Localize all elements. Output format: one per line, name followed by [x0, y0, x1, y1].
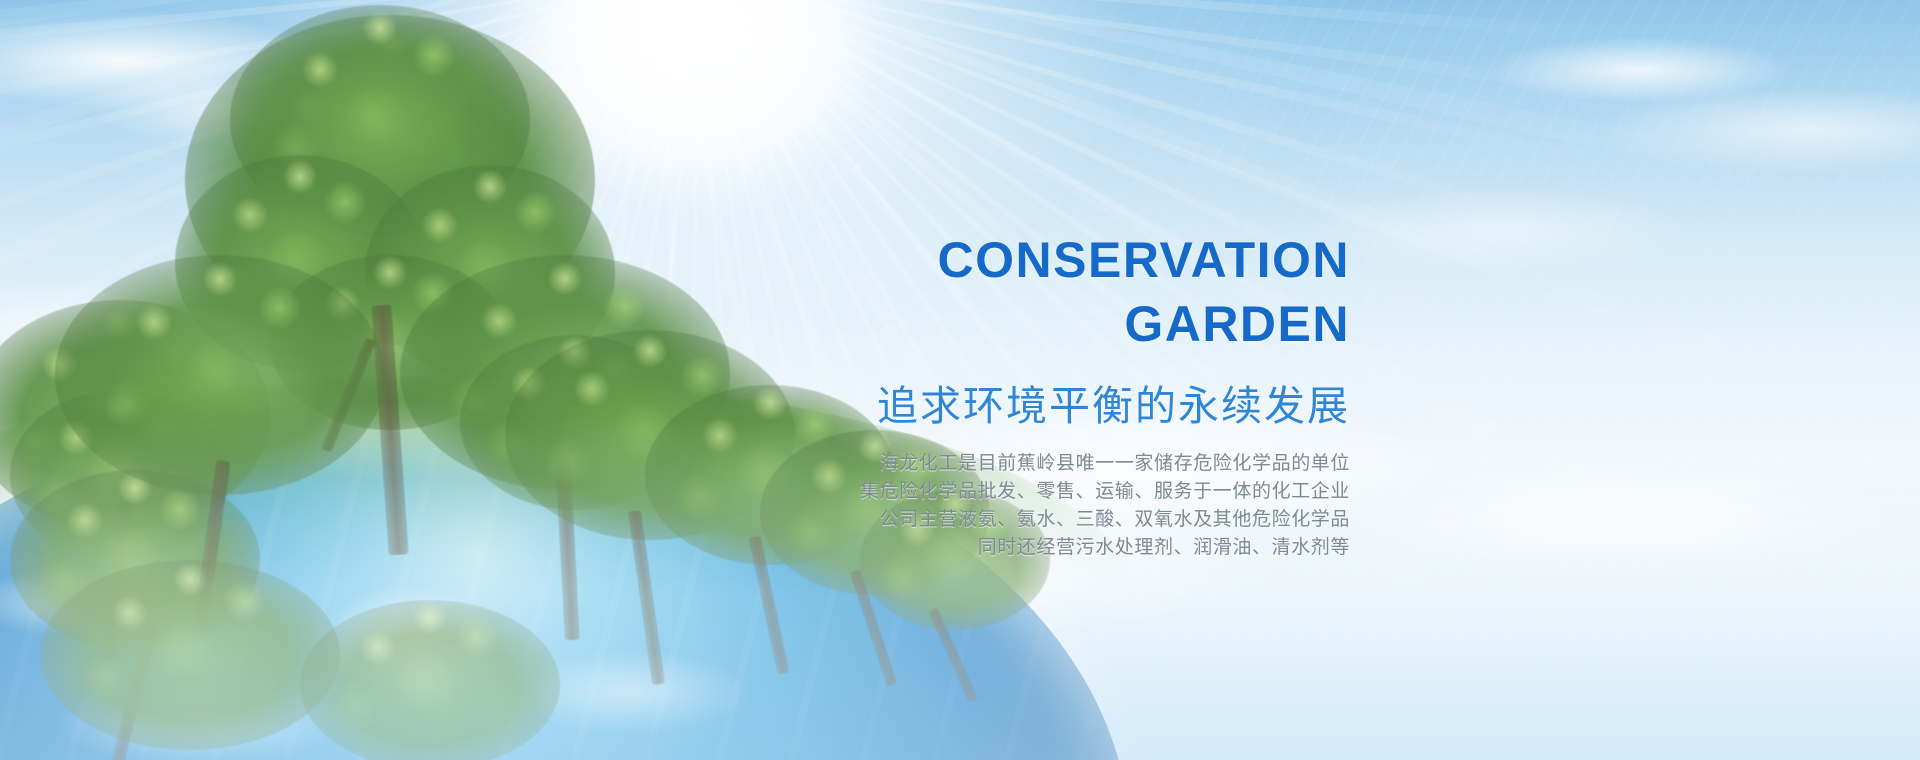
tree-bottom-center: [300, 600, 560, 760]
tagline: 追求环境平衡的永续发展: [710, 378, 1350, 434]
tree-left-lower: [10, 470, 260, 730]
description-line: 海龙化工是目前蕉岭县唯一一家储存危险化学品的单位: [710, 450, 1350, 478]
description-list: 海龙化工是目前蕉岭县唯一一家储存危险化学品的单位 集危险化学品批发、零售、运输、…: [710, 450, 1350, 562]
description-line: 集危险化学品批发、零售、运输、服务于一体的化工企业: [710, 478, 1350, 506]
headline-line-2: GARDEN: [710, 292, 1350, 356]
description-line: 同时还经营污水处理剂、润滑油、清水剂等: [710, 534, 1350, 562]
tree-main: [175, 5, 605, 565]
tree-mid-center: [400, 255, 730, 605]
headline-line-1: CONSERVATION: [710, 228, 1350, 292]
tree-far-left: [0, 300, 270, 600]
hero-banner: CONSERVATION GARDEN 追求环境平衡的永续发展 海龙化工是目前蕉…: [0, 0, 1920, 760]
description-line: 公司主营液氨、氨水、三酸、双氧水及其他危险化学品: [710, 506, 1350, 534]
banner-copy: CONSERVATION GARDEN 追求环境平衡的永续发展 海龙化工是目前蕉…: [710, 228, 1350, 562]
tree-bottom-left: [40, 560, 340, 760]
tree-mid-left: [55, 255, 385, 595]
